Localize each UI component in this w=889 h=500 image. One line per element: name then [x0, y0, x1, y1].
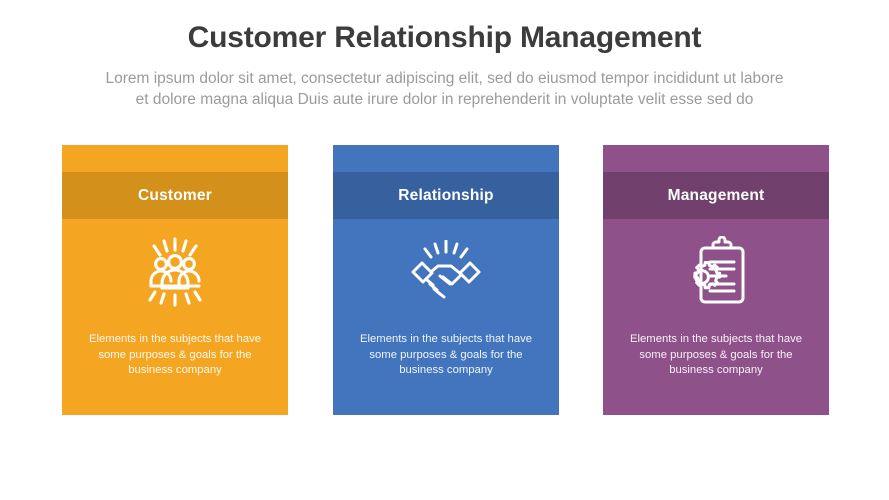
header: Customer Relationship Management Lorem i… [0, 18, 889, 110]
card-customer[interactable]: Customer [62, 145, 288, 415]
page-title: Customer Relationship Management [0, 18, 889, 58]
card-description: Elements in the subjects that have some … [347, 332, 545, 379]
subtitle-line-1: Lorem ipsum dolor sit amet, consectetur … [40, 68, 850, 89]
card-header-band: Customer [62, 172, 288, 219]
card-list: Customer [0, 145, 889, 465]
subtitle-line-2: et dolore magna aliqua Duis aute irure d… [40, 89, 850, 110]
card-title: Customer [138, 187, 212, 205]
handshake-icon [333, 227, 559, 317]
card-title: Relationship [398, 187, 493, 205]
card-description: Elements in the subjects that have some … [76, 332, 274, 379]
card-header-band: Management [603, 172, 829, 219]
card-description: Elements in the subjects that have some … [617, 332, 815, 379]
page-subtitle: Lorem ipsum dolor sit amet, consectetur … [40, 68, 850, 110]
card-management[interactable]: Management E [603, 145, 829, 415]
card-title: Management [668, 187, 765, 205]
card-relationship[interactable]: Relationship [333, 145, 559, 415]
infographic-canvas: Customer Relationship Management Lorem i… [0, 0, 889, 500]
card-header-band: Relationship [333, 172, 559, 219]
clipboard-gear-icon [603, 227, 829, 317]
people-group-icon [62, 227, 288, 317]
